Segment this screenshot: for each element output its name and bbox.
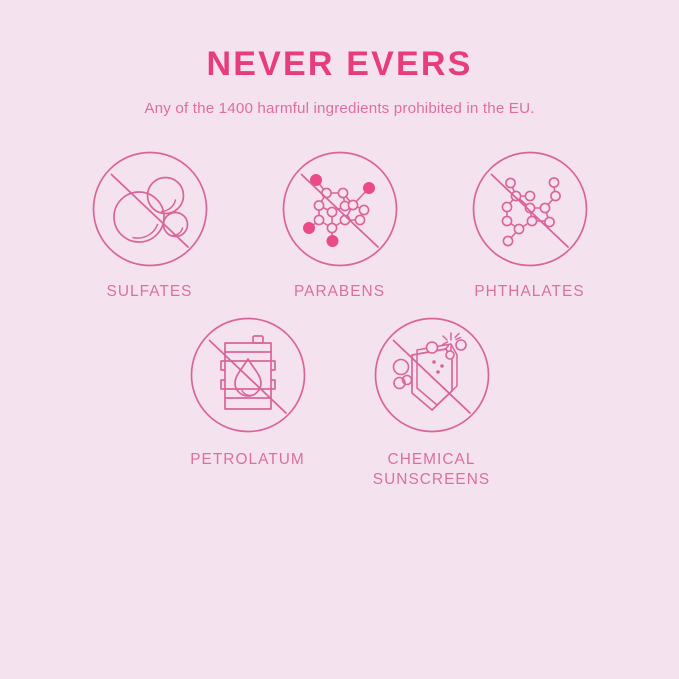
never-evers-poster: NEVER EVERS Any of the 1400 harmful ingr… [0,0,679,679]
icon-row-1: SULFATES [0,148,679,302]
no-chemical-sunscreens-shield-icon [371,314,493,436]
item-label: PETROLATUM [190,450,305,470]
item-petrolatum: PETROLATUM [184,314,312,470]
icon-grid: SULFATES [0,148,679,490]
item-label: CHEMICAL SUNSCREENS [373,450,490,489]
icon-row-2: PETROLATUM [0,314,679,489]
page-title: NEVER EVERS [0,46,679,83]
no-phthalates-molecule-icon [469,148,591,270]
item-label: PARABENS [294,282,385,302]
no-sulfates-bubbles-icon [89,148,211,270]
item-phthalates: PHTHALATES [466,148,594,302]
no-parabens-molecule-icon [279,148,401,270]
item-sulfates: SULFATES [86,148,214,302]
item-label: PHTHALATES [474,282,584,302]
item-parabens: PARABENS [276,148,404,302]
item-chemical-sunscreens: CHEMICAL SUNSCREENS [368,314,496,489]
item-label: SULFATES [107,282,193,302]
poster-header: NEVER EVERS Any of the 1400 harmful ingr… [0,0,679,119]
no-petrolatum-barrel-icon [187,314,309,436]
page-subtitle: Any of the 1400 harmful ingredients proh… [0,100,679,118]
